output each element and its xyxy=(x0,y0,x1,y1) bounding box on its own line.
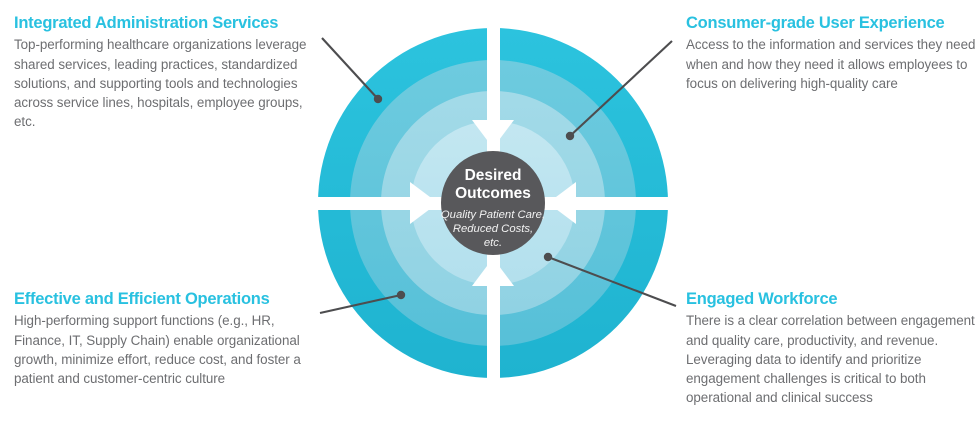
connector-bottom-left-dot xyxy=(397,291,405,299)
connector-top-left-dot xyxy=(374,95,382,103)
callout-title: Integrated Administration Services xyxy=(14,14,314,32)
callout-effective-and-efficient-operations: Effective and Efficient Operations High-… xyxy=(14,290,314,388)
center-subtitle-line3: etc. xyxy=(484,237,502,249)
center-subtitle-line2: Reduced Costs, xyxy=(453,223,533,235)
callout-engaged-workforce: Engaged Workforce There is a clear corre… xyxy=(686,290,980,407)
callout-body: Top-performing healthcare organizations … xyxy=(14,35,314,130)
callout-title: Consumer-grade User Experience xyxy=(686,14,980,32)
center-title-line2: Outcomes xyxy=(455,185,531,202)
connector-bottom-right-dot xyxy=(544,253,552,261)
connector-top-right-dot xyxy=(566,132,574,140)
connector-top-left-line xyxy=(322,38,378,99)
callout-body: Access to the information and services t… xyxy=(686,35,980,92)
callout-body: There is a clear correlation between eng… xyxy=(686,311,980,406)
diagram-page: Desired Outcomes Quality Patient Care, R… xyxy=(0,0,980,430)
callout-title: Effective and Efficient Operations xyxy=(14,290,314,308)
callout-title: Engaged Workforce xyxy=(686,290,980,308)
callout-integrated-administration-services: Integrated Administration Services Top-p… xyxy=(14,14,314,131)
callout-consumer-grade-user-experience: Consumer-grade User Experience Access to… xyxy=(686,14,980,93)
callout-body: High-performing support functions (e.g.,… xyxy=(14,311,314,387)
center-title-line1: Desired xyxy=(465,167,522,184)
center-subtitle-line1: Quality Patient Care, xyxy=(441,209,545,221)
